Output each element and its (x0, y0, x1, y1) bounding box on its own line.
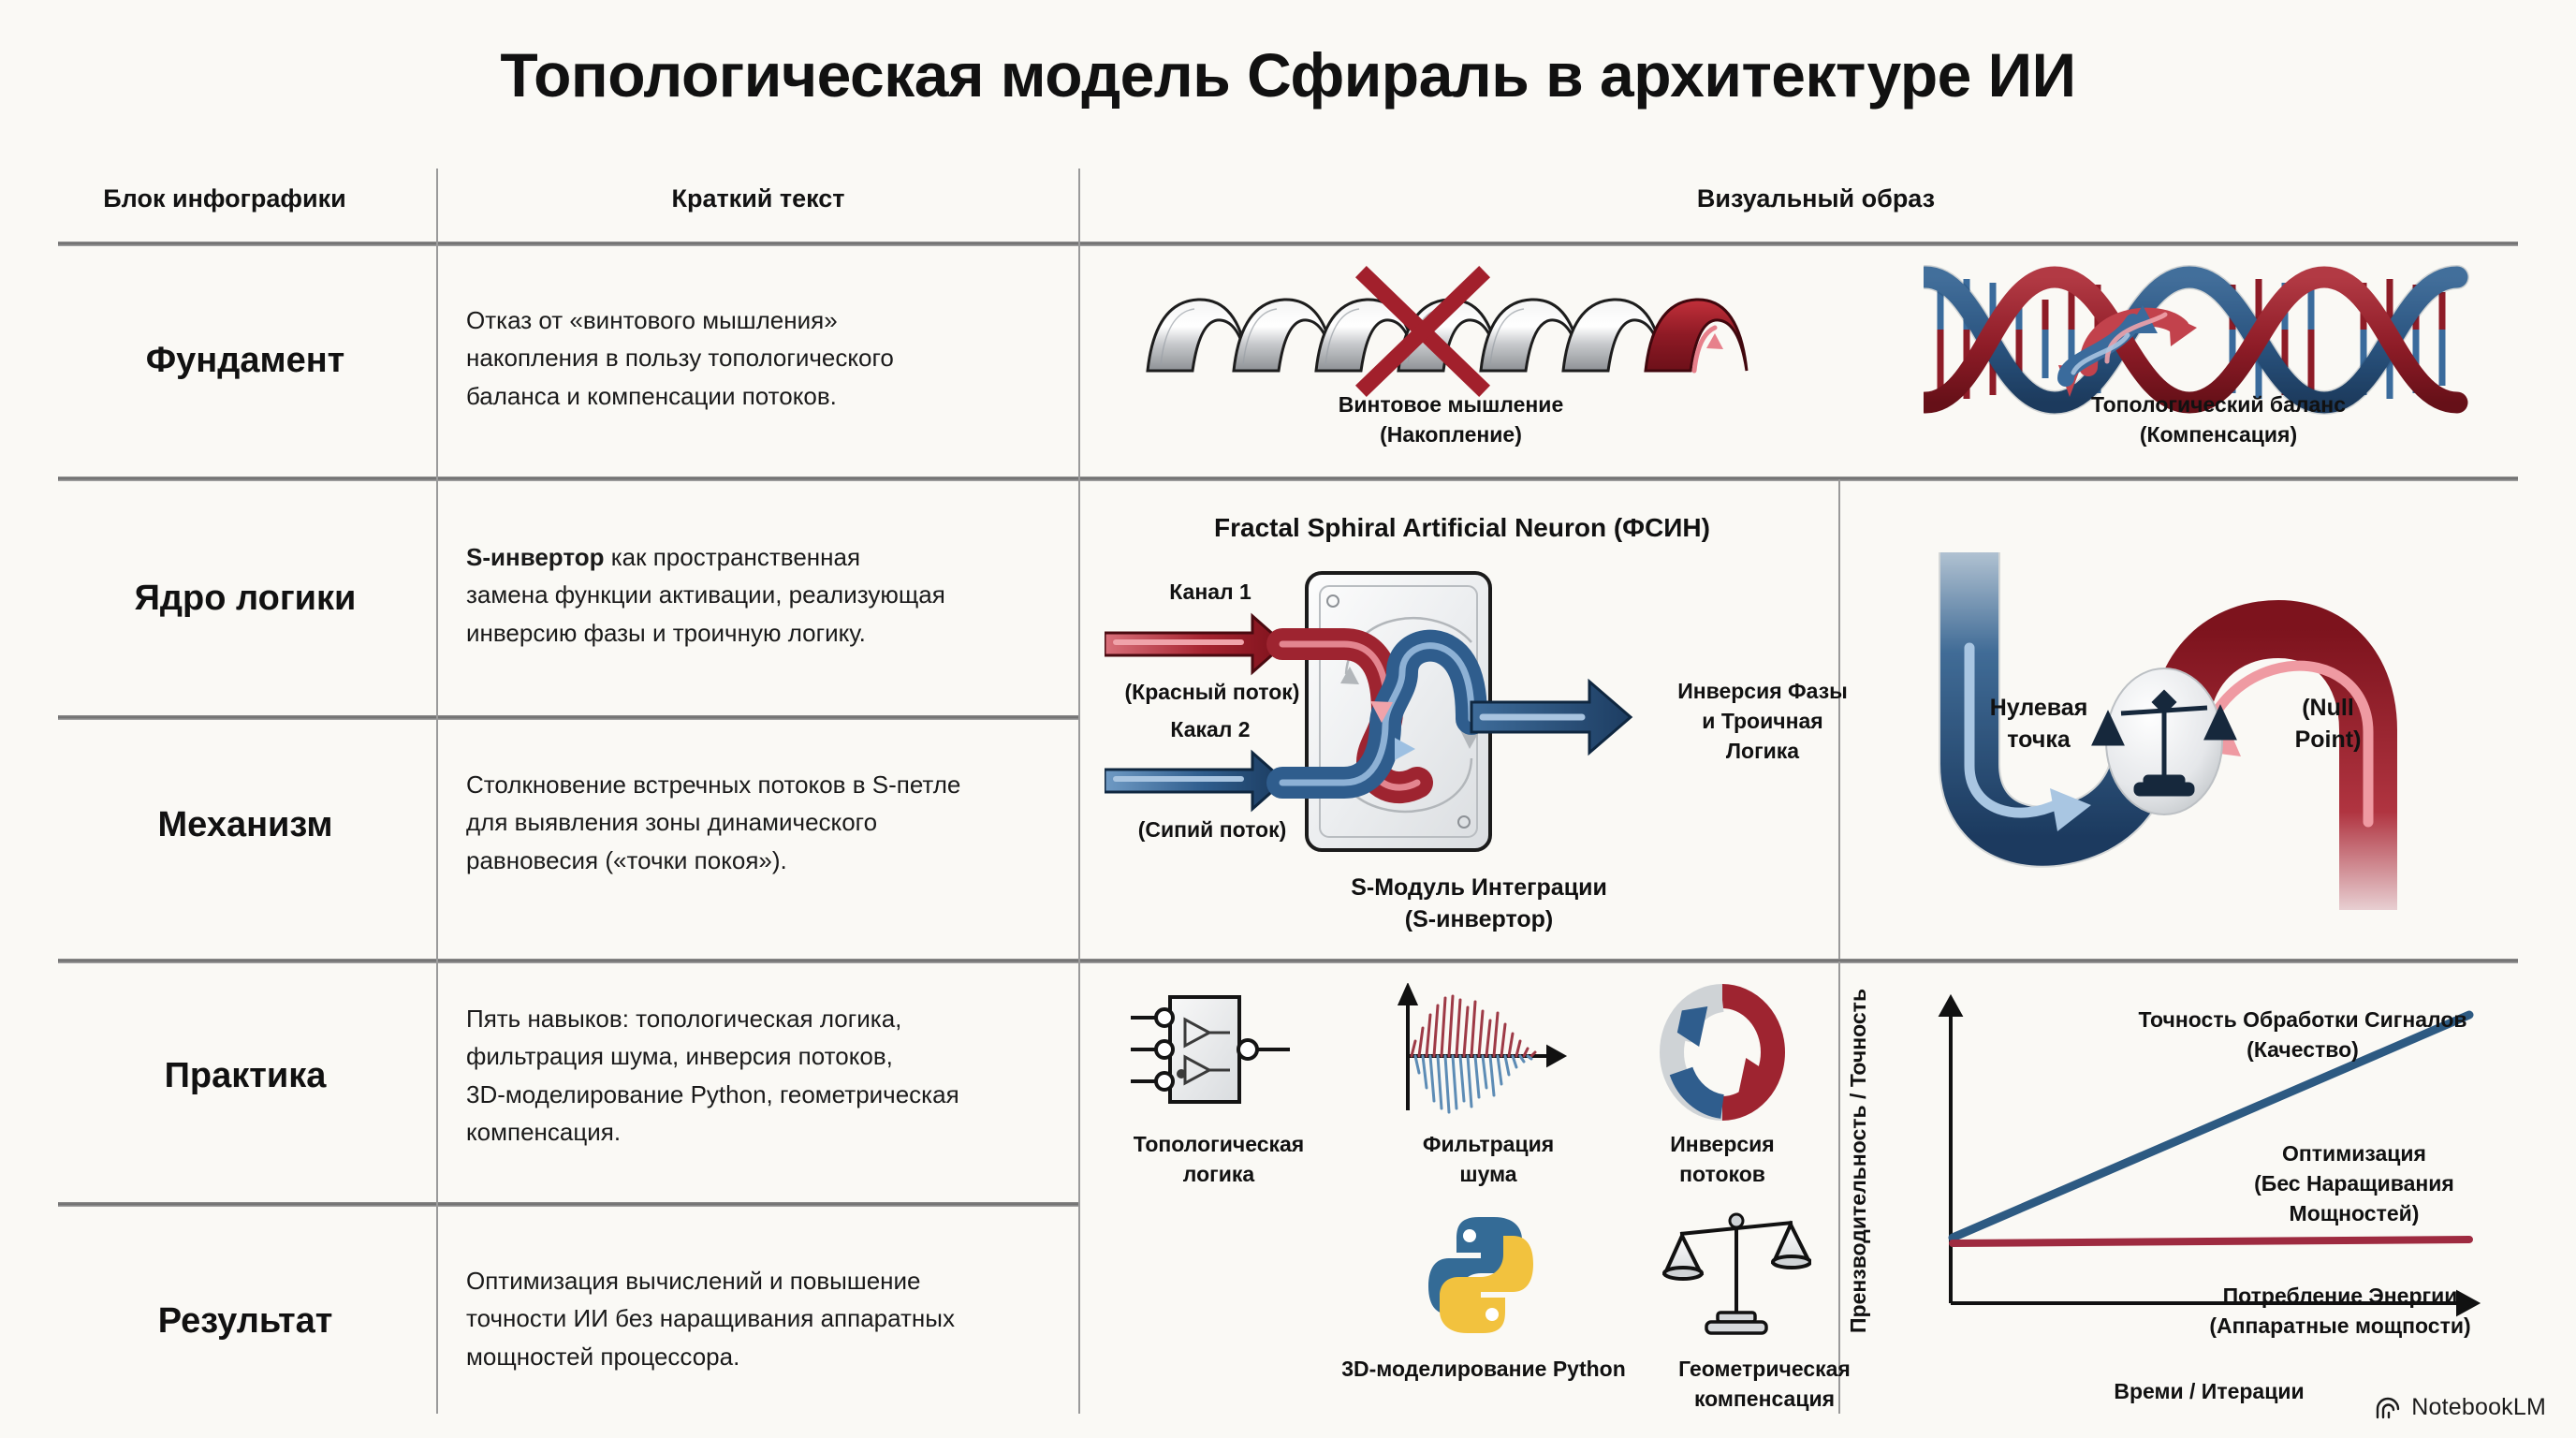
skill-1-label-line2: логика (1088, 1161, 1350, 1189)
infographic-page: Топологическая модель Сфираль в архитект… (0, 0, 2576, 1438)
inversion-cycle-icon (1647, 981, 1797, 1122)
fsin-channel2-sub: (Сипий поток) (1086, 816, 1339, 844)
text-line: фильтрация шума, инверсия потоков, (466, 1037, 1093, 1075)
notebooklm-watermark: NotebookLM (2375, 1394, 2546, 1421)
fsin-channel2-label: Какал 2 (1103, 716, 1318, 744)
text-rest: как пространственная (604, 543, 860, 571)
dna-balance-caption-line2: (Компенсация) (1900, 421, 2537, 449)
chart-annotation-accuracy-line1: Точность Обработки Сигналов (2087, 1006, 2518, 1034)
text-line: накопления в пользу топологического (466, 339, 1075, 376)
text-line: равновесия («точки покоя»). (466, 842, 1084, 879)
chart-y-axis-label: Прензводительность / Точность (1846, 940, 1883, 1333)
row-text-core-logic: S-инвертор как пространственная замена ф… (466, 538, 1084, 652)
text-emphasis: S-инвертор (466, 543, 604, 571)
column-divider-1 (436, 169, 438, 1414)
skill-5-label-line2: компенсация (1666, 1386, 1863, 1414)
column-header-visual: Визуальный образ (1086, 184, 2546, 213)
row-text-foundation: Отказ от «винтового мышления» накопления… (466, 301, 1075, 415)
logic-gate-icon (1116, 988, 1312, 1114)
nullpoint-label-right-line1: (Null (2248, 693, 2408, 724)
nullpoint-label-right-line2: Point) (2248, 725, 2408, 756)
chart-annotation-optimization-line2: (Бес Наращивания (2190, 1170, 2518, 1198)
text-line: мощностей процессора. (466, 1338, 1093, 1375)
text-line: точности ИИ без наращивания аппаратных (466, 1299, 1093, 1337)
python-logo-icon (1415, 1210, 1546, 1341)
visual-divider-low (1838, 961, 1840, 1414)
skill-4-label-line1: 3D-моделирование Python (1310, 1356, 1657, 1384)
scales-icon (1661, 1206, 1811, 1342)
fsin-output-line1: Инверсия Фазы (1655, 678, 1870, 706)
column-header-block: Блок инфографики (28, 184, 421, 213)
text-line: Столкновение встречных потоков в S-петле (466, 766, 1084, 803)
text-line: Пять навыков: топологическая логика, (466, 1000, 1093, 1037)
text-line: Отказ от «винтового мышления» (466, 301, 1075, 339)
text-line: для выявления зоны динамического (466, 803, 1084, 841)
text-line: 3D-моделирование Python, геометрическая (466, 1076, 1093, 1113)
fsin-title: Fractal Sphiral Artificial Neuron (ФСИН) (1097, 513, 1827, 543)
fsin-module-caption-line2: (S-инвертор) (1292, 904, 1666, 935)
text-line: компенсация. (466, 1113, 1093, 1151)
series-energy-line (1953, 1240, 2469, 1243)
text-line: Оптимизация вычислений и повышение (466, 1262, 1093, 1299)
text-line: замена функции активации, реализующая (466, 576, 1084, 613)
skill-1-label-line1: Топологическая (1088, 1131, 1350, 1159)
row-label-core-logic: Ядро логики (58, 579, 432, 619)
chart-annotation-accuracy-line2: (Качество) (2087, 1036, 2518, 1064)
chart-annotation-energy-line2: (Аппаратные мощпости) (2144, 1313, 2537, 1341)
chart-annotation-optimization-line3: Мощностей) (2190, 1200, 2518, 1228)
row-label-foundation: Фундамент (58, 341, 432, 381)
notebooklm-watermark-text: NotebookLM (2411, 1394, 2546, 1421)
header-divider (58, 242, 2518, 246)
nullpoint-label-left-line1: Нулевая (1954, 693, 2123, 724)
text-line: S-инвертор как пространственная (466, 538, 1084, 576)
row-text-practice: Пять навыков: топологическая логика, фил… (466, 1000, 1093, 1151)
notebooklm-logo-icon (2375, 1396, 2403, 1420)
fsin-channel1-label: Канал 1 (1103, 579, 1318, 607)
skill-3-label-line1: Инверсия (1633, 1131, 1811, 1159)
text-line: баланса и компенсации потоков. (466, 377, 1075, 415)
chart-annotation-energy-line1: Потребление Энергии (2144, 1283, 2537, 1311)
row-divider-3 (58, 959, 2518, 963)
page-title: Топологическая модель Сфираль в архитект… (0, 39, 2576, 110)
fsin-channel1-sub: (Красный поток) (1086, 679, 1339, 707)
fsin-output-line2: и Троичная (1655, 708, 1870, 736)
row-text-result: Оптимизация вычислений и повышение точно… (466, 1262, 1093, 1375)
nullpoint-label-left-line2: точка (1954, 725, 2123, 756)
column-header-text: Краткий текст (449, 184, 1067, 213)
row-label-result: Результат (58, 1301, 432, 1342)
row-label-mechanism: Механизм (58, 805, 432, 845)
text-line: инверсию фазы и троичную логику. (466, 614, 1084, 652)
row-divider-1 (58, 477, 2518, 481)
skill-5-label-line1: Геометрическая (1666, 1356, 1863, 1384)
screw-helix-caption-line1: Винтовое мышление (1133, 391, 1769, 419)
screw-helix-caption-line2: (Накопление) (1133, 421, 1769, 449)
row-text-mechanism: Столкновение встречных потоков в S-петле… (466, 766, 1084, 879)
fsin-output-line3: Логика (1655, 738, 1870, 766)
fsin-module-caption-line1: S-Модуль Интеграции (1292, 873, 1666, 903)
row-label-practice: Практика (58, 1056, 432, 1096)
skill-2-label-line2: шума (1381, 1161, 1596, 1189)
skill-2-label-line1: Фильтрация (1381, 1131, 1596, 1159)
waveform-icon (1395, 983, 1573, 1119)
row-divider-2 (58, 715, 1080, 720)
dna-balance-caption-line1: Топологический баланс (1900, 391, 2537, 419)
row-divider-4 (58, 1202, 1080, 1207)
skill-3-label-line2: потоков (1633, 1161, 1811, 1189)
chart-annotation-optimization-line1: Оптимизация (2190, 1140, 2518, 1168)
